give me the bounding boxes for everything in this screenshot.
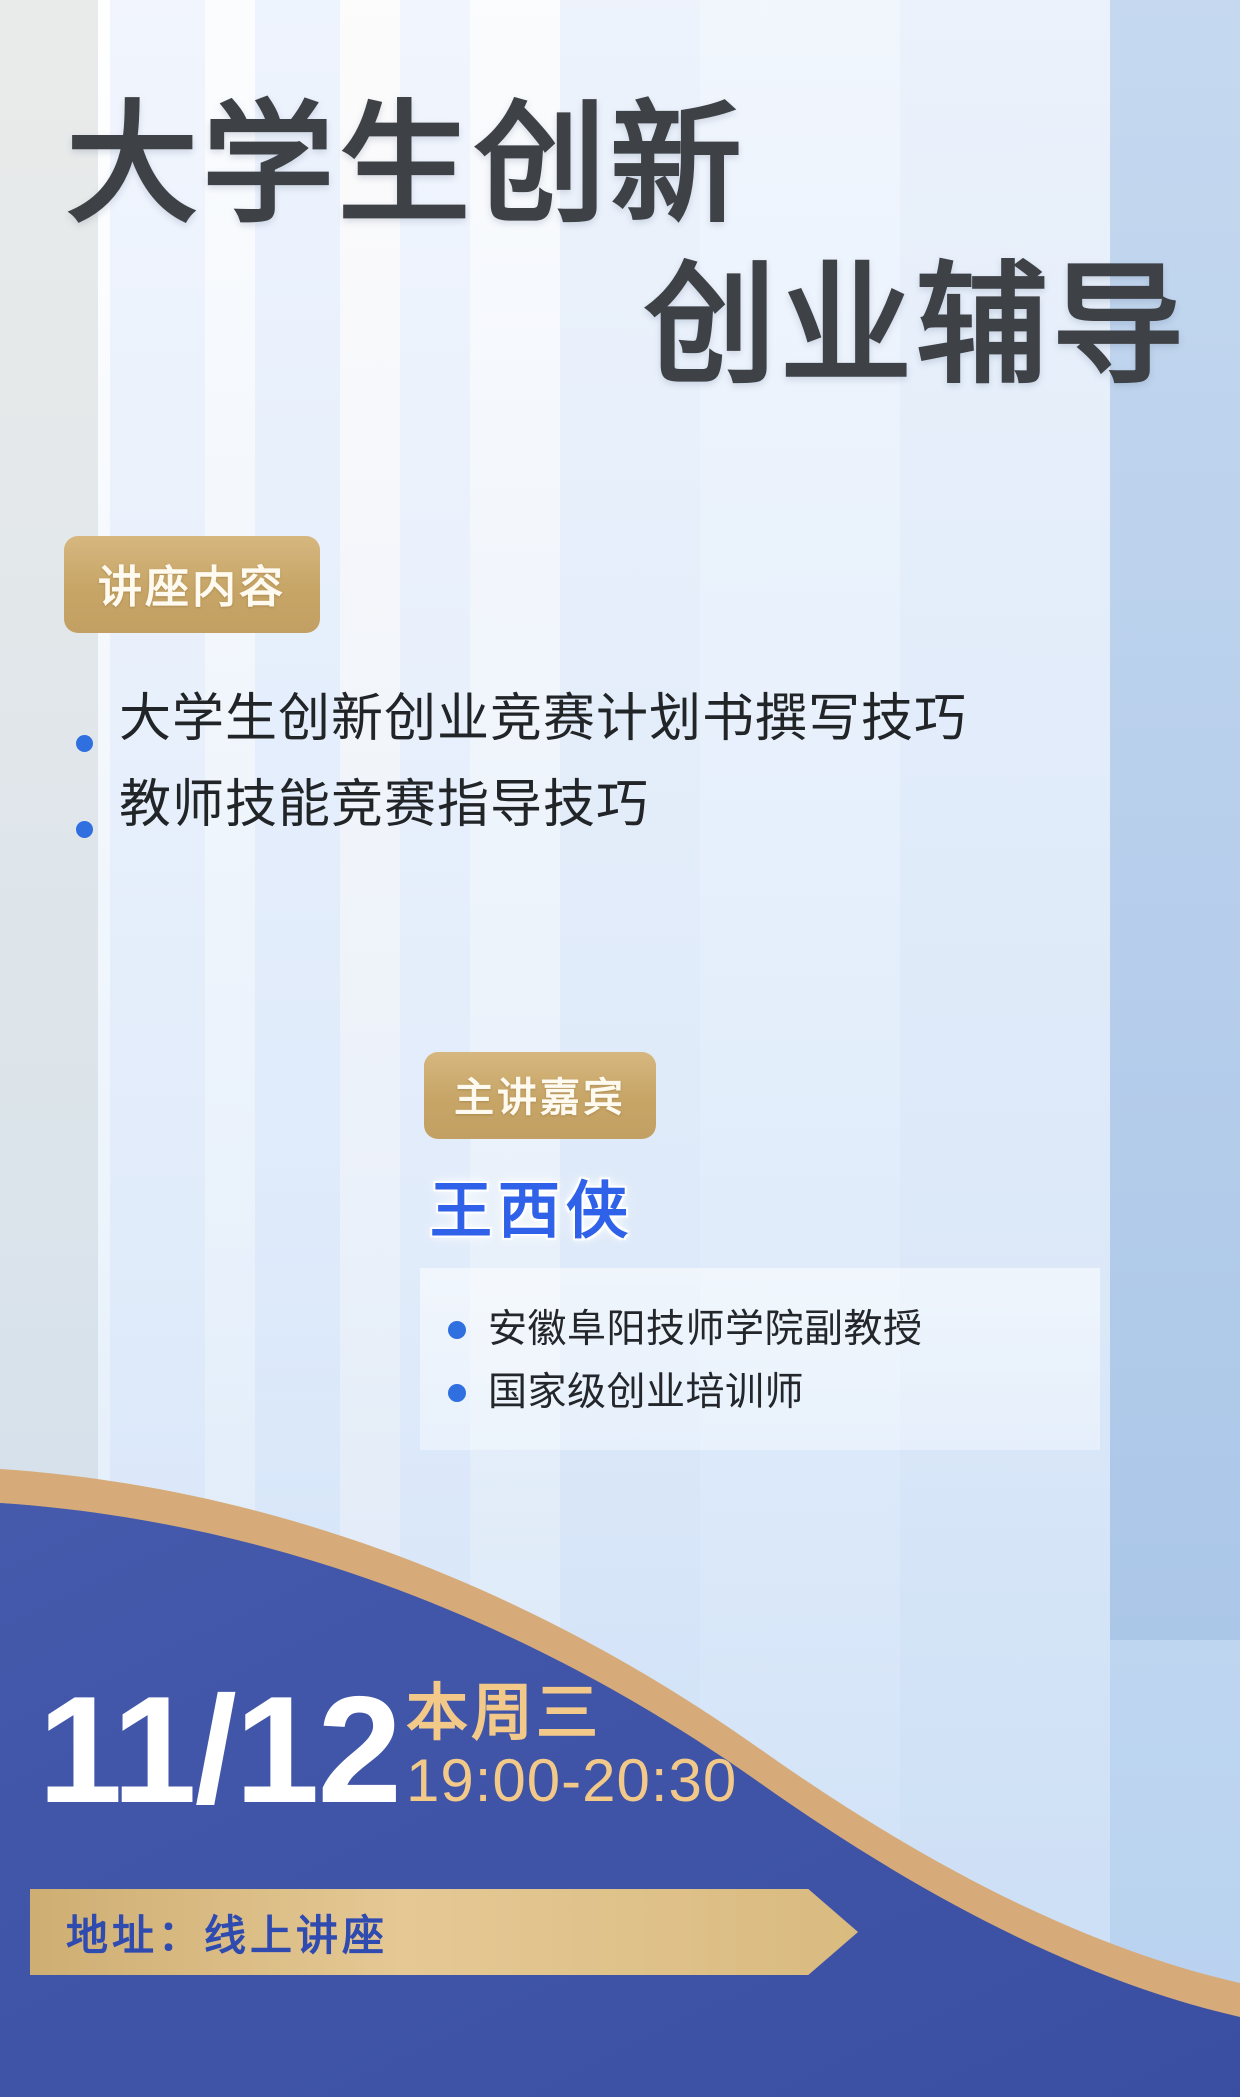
lecture-item-text: 教师技能竞赛指导技巧 — [119, 768, 649, 844]
lecture-content-badge: 讲座内容 — [64, 536, 320, 633]
event-date: 11/12 — [38, 1679, 400, 1822]
event-time: 19:00-20:30 — [406, 1747, 737, 1814]
event-weekday: 本周三 — [406, 1681, 737, 1747]
event-date-details: 本周三 19:00-20:30 — [406, 1681, 737, 1822]
address-text: 地址：线上讲座 — [66, 1902, 388, 1963]
lecture-item-text: 大学生创新创业竞赛计划书撰写技巧 — [119, 682, 967, 758]
list-item: 安徽阜阳技师学院副教授 — [448, 1268, 1100, 1361]
speaker-badge: 主讲嘉宾 — [424, 1052, 656, 1139]
bullet-dot-icon — [76, 735, 93, 752]
speaker-credential-text: 安徽阜阳技师学院副教授 — [488, 1298, 923, 1361]
poster-title: 大学生创新 创业辅导 — [0, 96, 1240, 395]
speaker-name: 王西侠 — [430, 1160, 634, 1250]
poster-root: 大学生创新 创业辅导 讲座内容 大学生创新创业竞赛计划书撰写技巧 教师技能竞赛指… — [0, 0, 1240, 2097]
address-banner: 地址：线上讲座 — [30, 1889, 858, 1975]
list-item: 教师技能竞赛指导技巧 — [76, 768, 1086, 844]
bullet-dot-icon — [76, 821, 93, 838]
title-line-2: 创业辅导 — [0, 257, 1240, 394]
lecture-content-list: 大学生创新创业竞赛计划书撰写技巧 教师技能竞赛指导技巧 — [76, 682, 1086, 854]
bullet-dot-icon — [448, 1321, 466, 1339]
list-item: 大学生创新创业竞赛计划书撰写技巧 — [76, 682, 1086, 758]
event-date-block: 11/12 本周三 19:00-20:30 — [38, 1679, 737, 1822]
title-line-1: 大学生创新 — [0, 96, 1240, 233]
